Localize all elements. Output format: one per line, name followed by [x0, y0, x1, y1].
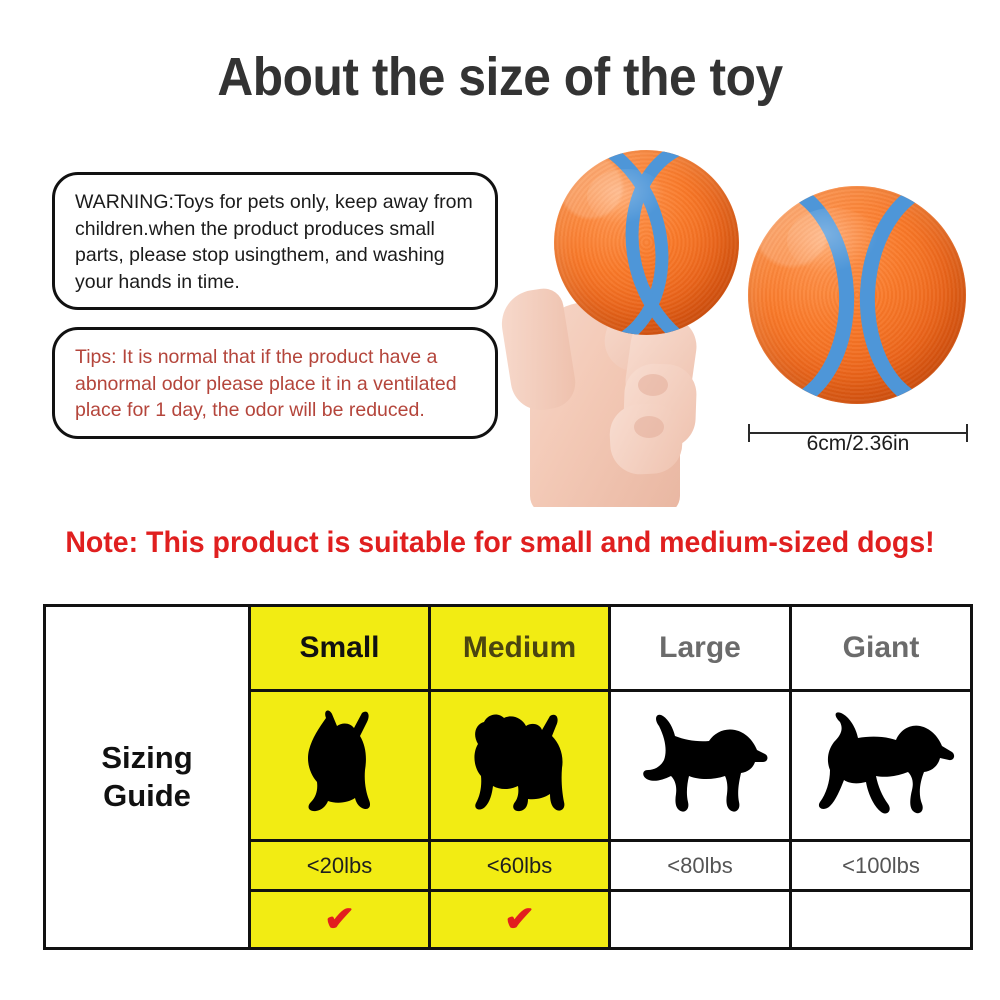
silhouette-cell-small [250, 691, 430, 841]
check-cell-medium: ✔ [430, 891, 610, 949]
header-label-large: Large [659, 631, 741, 664]
hand-holding-ball-photo [498, 132, 758, 507]
header-cell-large: Large [610, 606, 791, 691]
note-text: Note: This product is suitable for small… [25, 526, 975, 560]
sizing-guide-line2: Guide [46, 777, 248, 815]
standing-beagle-silhouette [631, 710, 769, 822]
check-icon: ✔ [324, 902, 355, 937]
check-cell-large [610, 891, 791, 949]
weight-cell-small: <20lbs [250, 841, 430, 891]
sizing-guide-label-cell: Sizing Guide [45, 606, 250, 949]
knuckle-shading [634, 416, 664, 438]
header-cell-giant: Giant [791, 606, 972, 691]
standing-spitz-silhouette [460, 710, 580, 822]
check-cell-giant [791, 891, 972, 949]
weight-label-giant: <100lbs [842, 853, 920, 878]
finger-shape [608, 402, 684, 476]
silhouette-cell-large [610, 691, 791, 841]
weight-label-small: <20lbs [307, 853, 372, 878]
knuckle-shading [638, 374, 668, 396]
weight-cell-large: <80lbs [610, 841, 791, 891]
header-cell-medium: Medium [430, 606, 610, 691]
warning-callout: WARNING:Toys for pets only, keep away fr… [52, 172, 498, 310]
weight-label-large: <80lbs [667, 853, 732, 878]
tips-callout: Tips: It is normal that if the product h… [52, 327, 498, 439]
page-title: About the size of the toy [40, 46, 960, 108]
toy-ball-photo [748, 186, 980, 418]
ball-highlight [787, 208, 879, 273]
check-cell-small: ✔ [250, 891, 430, 949]
silhouette-cell-medium [430, 691, 610, 841]
header-label-small: Small [299, 631, 379, 664]
sitting-bulldog-silhouette [292, 708, 388, 824]
header-label-giant: Giant [843, 631, 920, 664]
sizing-guide-line1: Sizing [46, 739, 248, 777]
trotting-retriever-silhouette [806, 710, 956, 822]
check-icon: ✔ [504, 902, 535, 937]
header-label-medium: Medium [463, 631, 576, 664]
dimension-label: 6cm/2.36in [748, 432, 968, 456]
table-header-row: Sizing Guide Small Medium Large Giant [45, 606, 972, 691]
silhouette-cell-giant [791, 691, 972, 841]
sizing-guide-table: Sizing Guide Small Medium Large Giant [43, 604, 973, 950]
weight-label-medium: <60lbs [487, 853, 552, 878]
ball-highlight [587, 169, 665, 225]
weight-cell-giant: <100lbs [791, 841, 972, 891]
header-cell-small: Small [250, 606, 430, 691]
weight-cell-medium: <60lbs [430, 841, 610, 891]
toy-ball [748, 186, 966, 404]
toy-ball-in-hand [554, 150, 739, 335]
